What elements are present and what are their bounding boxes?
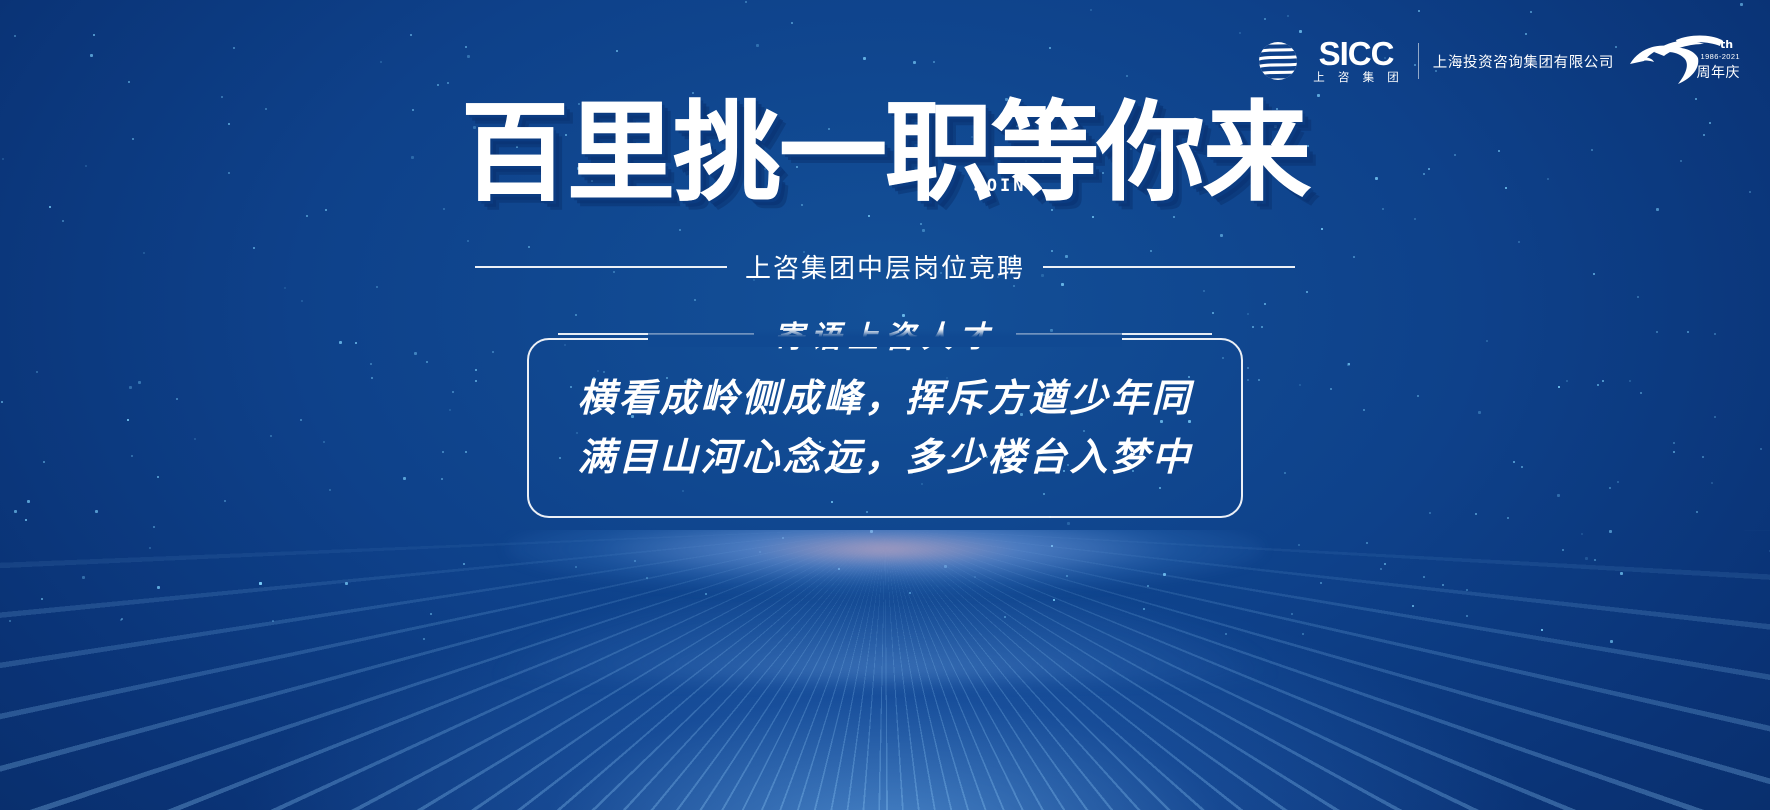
company-name: 上海投资咨询集团有限公司 xyxy=(1433,51,1614,72)
floor-radial-lines xyxy=(0,530,1770,810)
brand-divider xyxy=(1418,43,1419,79)
subtitle-rule-right xyxy=(1043,266,1295,268)
quote-box: 横看成岭侧成峰，挥斥方遒少年同 满目山河心念远，多少楼台入梦中 xyxy=(527,338,1243,518)
sicc-logo[interactable]: SICC 上 咨 集 团 xyxy=(1257,37,1404,85)
sicc-globe-icon xyxy=(1257,40,1299,82)
perspective-floor-decoration xyxy=(0,530,1770,810)
sicc-chinese-name: 上 咨 集 团 xyxy=(1308,73,1404,85)
horizon-glow xyxy=(505,530,1265,594)
anniversary-years: 1986-2021 xyxy=(1701,52,1740,61)
sicc-wordmark: SICC xyxy=(1319,37,1394,70)
page-title: 百里挑一职等你来 xyxy=(461,98,1309,210)
join-badge: JOIN xyxy=(974,176,1027,196)
hero-title-block: 百里挑一职等你来 JOIN xyxy=(0,98,1770,210)
subtitle-rule-left xyxy=(475,266,727,268)
quote-line-1: 横看成岭侧成峰，挥斥方遒少年同 xyxy=(577,374,1192,423)
anniversary-label: 周年庆 xyxy=(1697,62,1741,82)
poster-canvas: SICC 上 咨 集 团 上海投资咨询集团有限公司 th 1986-2021 周… xyxy=(0,0,1770,810)
svg-text:th: th xyxy=(1720,38,1733,51)
subtitle-row: 上咨集团中层岗位竞聘 xyxy=(0,248,1770,285)
anniversary-logo: th 1986-2021 周年庆 xyxy=(1624,34,1742,88)
quote-line-2: 满目山河心念远，多少楼台入梦中 xyxy=(577,433,1192,482)
quote-heading-backdrop xyxy=(648,329,1122,347)
brand-bar: SICC 上 咨 集 团 上海投资咨询集团有限公司 th 1986-2021 周… xyxy=(1257,34,1742,88)
floor-beam-glow xyxy=(335,530,1435,680)
page-subtitle: 上咨集团中层岗位竞聘 xyxy=(745,248,1025,285)
